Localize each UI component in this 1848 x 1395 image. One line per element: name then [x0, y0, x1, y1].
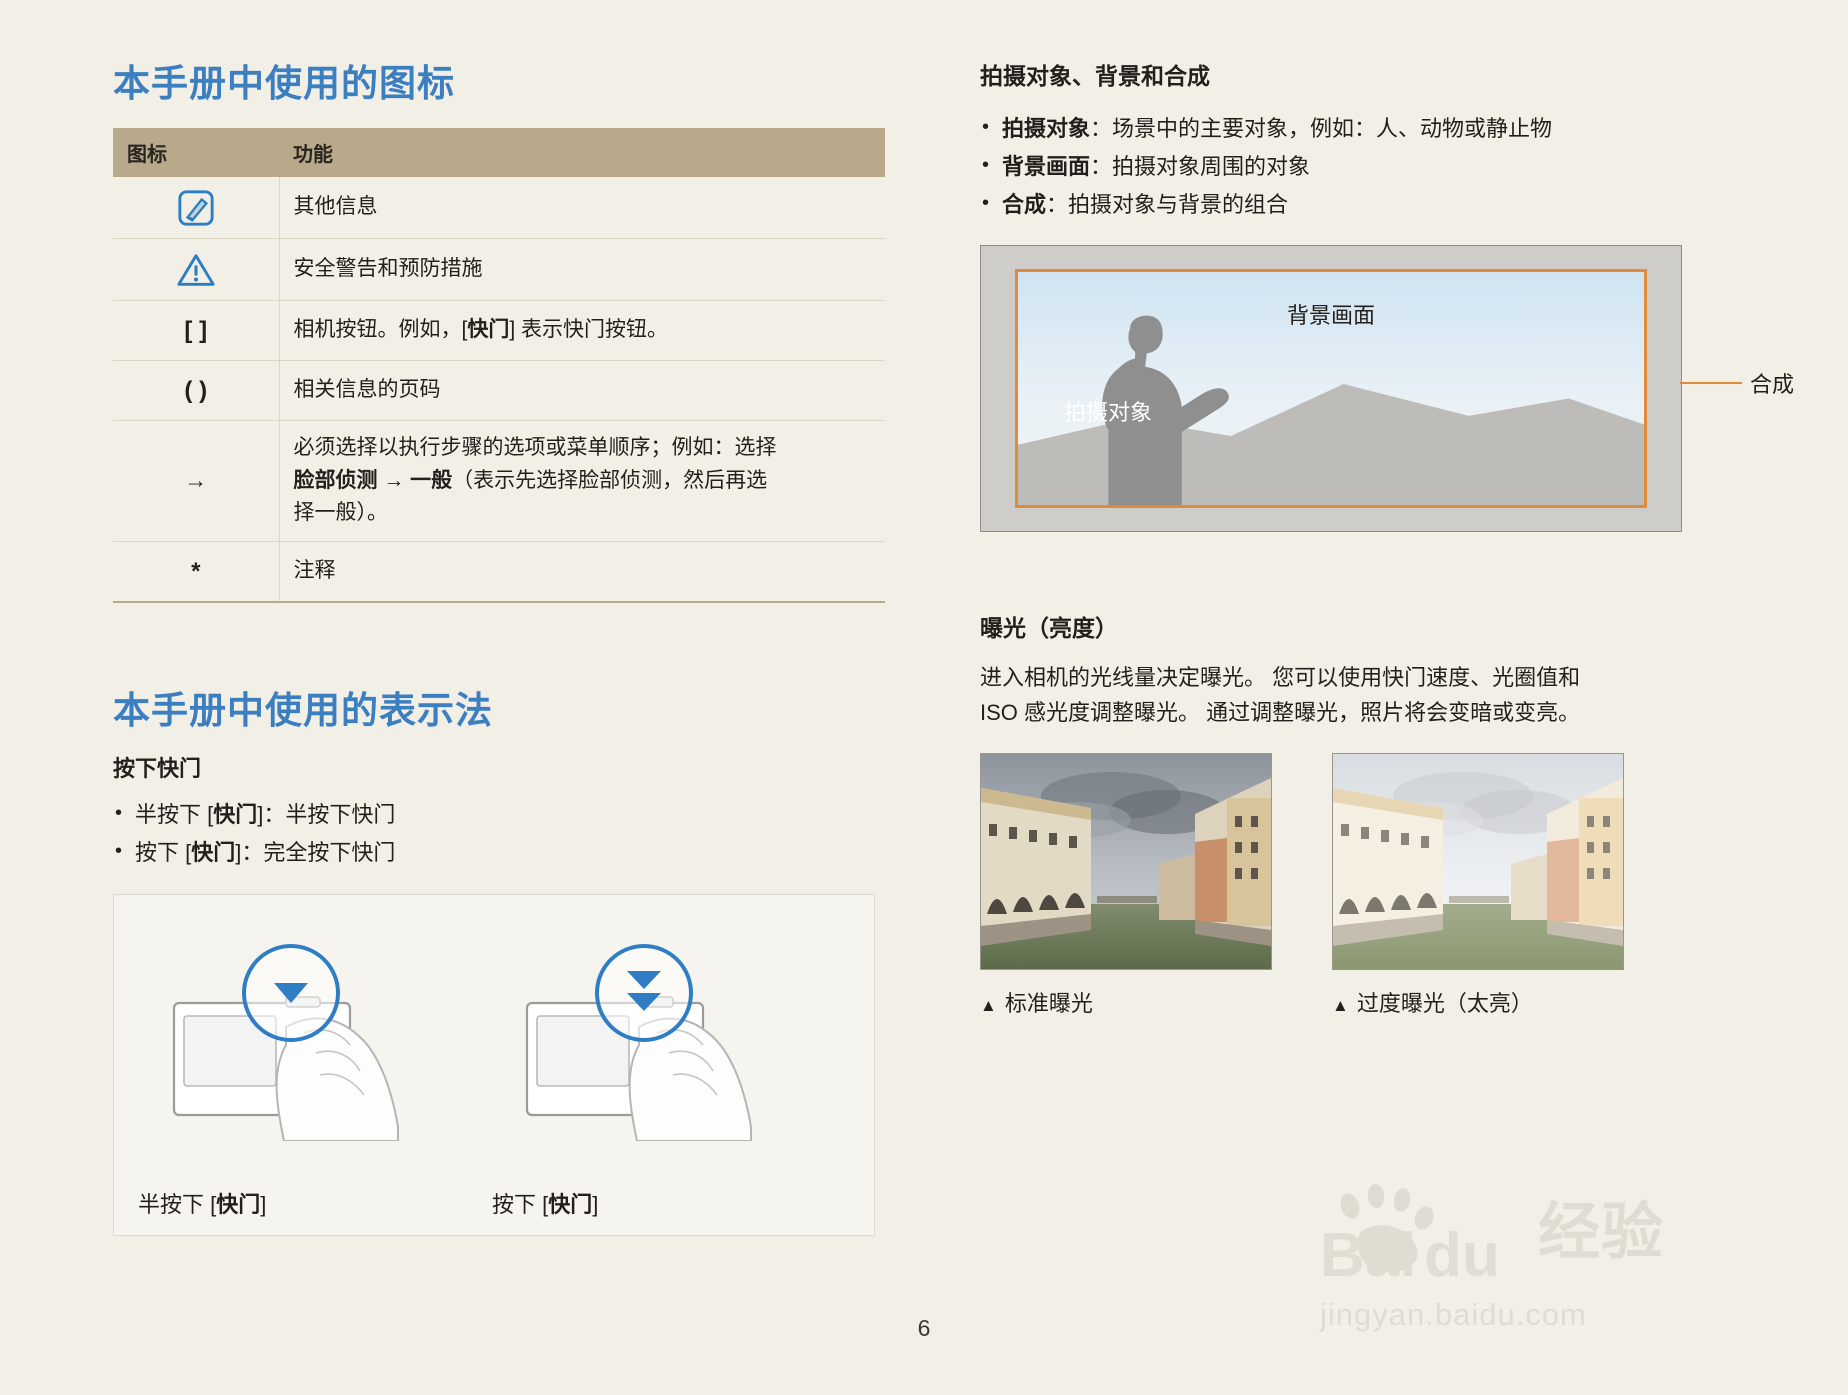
column-header-icon: 图标: [113, 128, 279, 177]
caption-standard-text: 标准曝光: [1005, 991, 1093, 1016]
list-item: 背景画面：拍摄对象周围的对象: [980, 148, 1760, 186]
subheading-press-shutter: 按下快门: [113, 755, 885, 784]
triangle-marker-icon: ▲: [1332, 996, 1349, 1015]
table-row: 其他信息: [113, 177, 885, 238]
cap-right-bold: 快门: [548, 1192, 592, 1217]
bullet-0-post: ]：半按下快门: [257, 802, 395, 827]
svg-text:du: du: [1424, 1221, 1500, 1280]
triangle-marker-icon: ▲: [980, 996, 997, 1015]
comp-bullet-2-rest: ：拍摄对象与背景的组合: [1046, 192, 1288, 217]
arrow-desc-line3: 择一般）。: [294, 497, 872, 530]
right-column: 拍摄对象、背景和合成 拍摄对象：场景中的主要对象，例如：人、动物或静止物 背景画…: [980, 62, 1760, 1018]
section-heading-notation: 本手册中使用的表示法: [113, 689, 885, 733]
page-number: 6: [0, 1315, 1848, 1342]
paren-symbol: ( ): [113, 360, 279, 420]
left-column: 本手册中使用的图标 图标 功能: [113, 62, 885, 1236]
label-subject: 拍摄对象: [1064, 395, 1152, 427]
cap-left-bold: 快门: [216, 1192, 260, 1217]
scene-frame: 背景画面 拍摄对象: [980, 245, 1682, 532]
exposure-body-line1: 进入相机的光线量决定曝光。 您可以使用快门速度、光圈值和: [980, 660, 1760, 695]
shutter-figure: 半按下 [快门] 按下 [快门]: [113, 894, 875, 1236]
note-icon-cell: [113, 177, 279, 238]
caption-overexposed-text: 过度曝光（太亮）: [1357, 991, 1533, 1016]
bracket-description: 相机按钮。例如，[快门] 表示快门按钮。: [279, 300, 885, 360]
comp-bullet-0-bold: 拍摄对象: [1002, 116, 1090, 141]
comp-bullet-1-bold: 背景画面: [1002, 154, 1090, 179]
watermark-brand-text: 经验: [1538, 1202, 1664, 1264]
bracket-symbol: [ ]: [113, 300, 279, 360]
arrow-desc-line1: 必须选择以执行步骤的选项或菜单顺序；例如：选择: [294, 432, 872, 465]
icon-legend-table: 图标 功能: [113, 128, 885, 603]
bullet-0-bold: 快门: [213, 802, 257, 827]
comp-bullet-2-bold: 合成: [1002, 192, 1046, 217]
arrow-glyph: →: [184, 467, 207, 493]
arrow-desc-bold-2: 一般: [410, 469, 452, 492]
composition-bullet-list: 拍摄对象：场景中的主要对象，例如：人、动物或静止物 背景画面：拍摄对象周围的对象…: [980, 110, 1760, 223]
asterisk-description: 注释: [279, 541, 885, 602]
photo-overexposed: ▲过度曝光（太亮）: [1332, 753, 1622, 1018]
subheading-exposure: 曝光（亮度）: [980, 614, 1760, 644]
warning-description: 安全警告和预防措施: [279, 239, 885, 301]
figure-caption-half-press: 半按下 [快门]: [138, 1187, 266, 1219]
label-background: 背景画面: [1018, 298, 1644, 330]
bullet-1-bold: 快门: [191, 840, 235, 865]
list-item: 半按下 [快门]：半按下快门: [113, 796, 885, 834]
caption-standard-exposure: ▲标准曝光: [980, 986, 1270, 1018]
table-row: → 必须选择以执行步骤的选项或菜单顺序；例如：选择 脸部侦测 → 一般（表示先选…: [113, 421, 885, 542]
column-header-function: 功能: [279, 128, 885, 177]
label-composition: 合成: [1750, 367, 1794, 399]
paren-description: 相关信息的页码: [279, 360, 885, 420]
photo-standard-exposure: ▲标准曝光: [980, 753, 1270, 1018]
table-row: [ ] 相机按钮。例如，[快门] 表示快门按钮。: [113, 300, 885, 360]
arrow-symbol: →: [113, 421, 279, 542]
bullet-0-pre: 半按下 [: [135, 802, 213, 827]
photo-image-standard: [980, 753, 1272, 970]
arrow-desc-bold-1: 脸部侦测: [294, 469, 378, 492]
exposure-body-text: 进入相机的光线量决定曝光。 您可以使用快门速度、光圈值和 ISO 感光度调整曝光…: [980, 660, 1760, 730]
warning-icon-cell: [113, 239, 279, 301]
section-heading-icons: 本手册中使用的图标: [113, 62, 885, 106]
caption-overexposed: ▲过度曝光（太亮）: [1332, 986, 1622, 1018]
composition-leader-line: [1680, 382, 1742, 384]
arrow-desc-line2: 脸部侦测 → 一般（表示先选择脸部侦测，然后再选: [294, 465, 872, 498]
cap-right-pre: 按下 [: [492, 1192, 548, 1217]
arrow-description: 必须选择以执行步骤的选项或菜单顺序；例如：选择 脸部侦测 → 一般（表示先选择脸…: [279, 421, 885, 542]
list-item: 合成：拍摄对象与背景的组合: [980, 186, 1760, 224]
arrow-desc-rest: （表示先选择脸部侦测，然后再选: [452, 469, 767, 492]
shutter-bullet-list: 半按下 [快门]：半按下快门 按下 [快门]：完全按下快门: [113, 796, 885, 872]
warning-icon: [176, 251, 216, 289]
arrow-desc-mid: →: [378, 469, 411, 492]
list-item: 按下 [快门]：完全按下快门: [113, 834, 885, 872]
cap-left-pre: 半按下 [: [138, 1192, 216, 1217]
asterisk-symbol: *: [113, 541, 279, 602]
manual-page: 本手册中使用的图标 图标 功能: [0, 0, 1848, 1395]
note-icon: [177, 189, 215, 227]
note-description: 其他信息: [279, 177, 885, 238]
exposure-photo-row: ▲标准曝光: [980, 753, 1760, 1018]
bracket-desc-prefix: 相机按钮。例如，[: [294, 318, 468, 341]
svg-text:Bai: Bai: [1320, 1221, 1416, 1280]
bullet-1-post: ]：完全按下快门: [235, 840, 395, 865]
figure-caption-full-press: 按下 [快门]: [492, 1187, 598, 1219]
cap-left-post: ]: [260, 1192, 266, 1217]
comp-bullet-0-rest: ：场景中的主要对象，例如：人、动物或静止物: [1090, 116, 1552, 141]
scene-inner-frame: 背景画面 拍摄对象: [1015, 269, 1647, 508]
table-header-row: 图标 功能: [113, 128, 885, 177]
subheading-subject-background-composition: 拍摄对象、背景和合成: [980, 62, 1760, 92]
table-row: ( ) 相关信息的页码: [113, 360, 885, 420]
exposure-body-line2: ISO 感光度调整曝光。 通过调整曝光，照片将会变暗或变亮。: [980, 695, 1760, 730]
cap-right-post: ]: [592, 1192, 598, 1217]
camera-full-press-illustration: [519, 941, 769, 1141]
list-item: 拍摄对象：场景中的主要对象，例如：人、动物或静止物: [980, 110, 1760, 148]
composition-figure: 背景画面 拍摄对象 合成: [980, 245, 1680, 532]
comp-bullet-1-rest: ：拍摄对象周围的对象: [1090, 154, 1310, 179]
table-row: * 注释: [113, 541, 885, 602]
bracket-desc-suffix: ] 表示快门按钮。: [509, 318, 668, 341]
table-row: 安全警告和预防措施: [113, 239, 885, 301]
bullet-1-pre: 按下 [: [135, 840, 191, 865]
photo-image-overexposed: [1332, 753, 1624, 970]
camera-half-press-illustration: [166, 941, 416, 1141]
bracket-desc-bold: 快门: [467, 318, 509, 341]
